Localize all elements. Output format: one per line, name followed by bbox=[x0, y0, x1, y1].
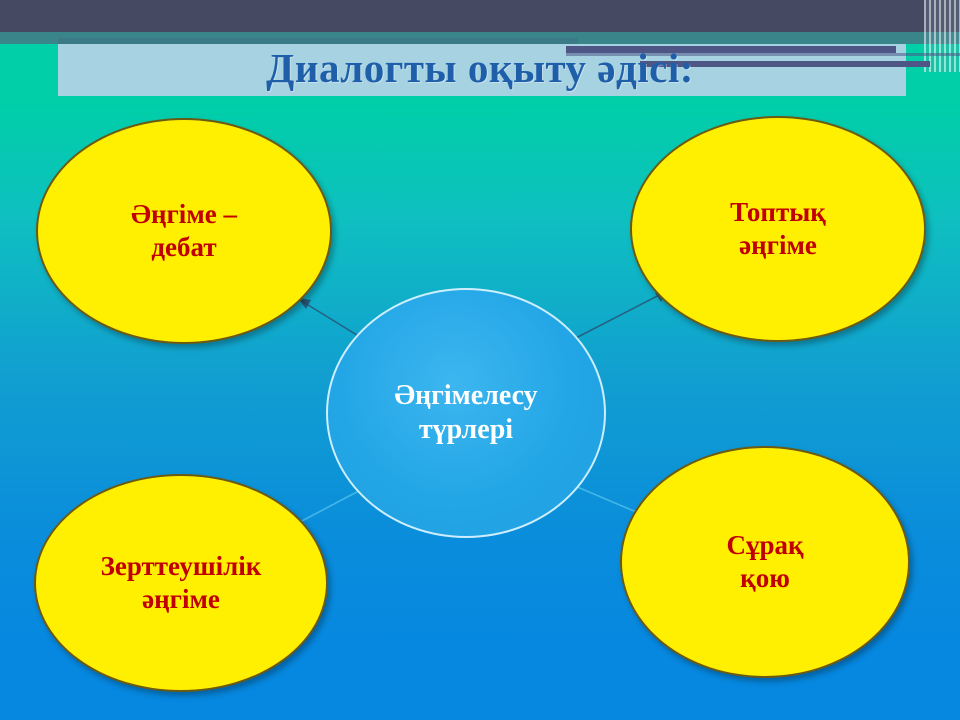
node-top-left-line1: Әңгіме – bbox=[131, 199, 237, 229]
node-bottom-right-line2: қою bbox=[740, 563, 790, 593]
slide-canvas: Диалогты оқыту әдісі: Әңгіме – дебат Топ… bbox=[0, 0, 960, 720]
center-node[interactable]: Әңгімелесу түрлері bbox=[326, 288, 606, 538]
node-bottom-right-label: Сұрақ қою bbox=[716, 529, 813, 595]
node-top-left-line2: дебат bbox=[151, 232, 216, 262]
node-bottom-left-label: Зерттеушілік әңгіме bbox=[91, 550, 272, 616]
node-top-right-label: Топтық әңгіме bbox=[720, 196, 836, 262]
node-bottom-left-line2: әңгіме bbox=[142, 584, 220, 614]
node-top-right-line1: Топтық bbox=[730, 197, 826, 227]
center-node-label: Әңгімелесу түрлері bbox=[384, 379, 547, 447]
node-top-right[interactable]: Топтық әңгіме bbox=[630, 116, 926, 342]
page-title: Диалогты оқыту әдісі: bbox=[100, 38, 860, 98]
node-bottom-left-line1: Зерттеушілік bbox=[101, 551, 262, 581]
connector-center-to-top-left bbox=[300, 300, 365, 340]
node-top-left-label: Әңгіме – дебат bbox=[121, 198, 247, 264]
node-top-left[interactable]: Әңгіме – дебат bbox=[36, 118, 332, 344]
center-node-line1: Әңгімелесу bbox=[394, 380, 537, 411]
node-bottom-right-line1: Сұрақ bbox=[726, 530, 803, 560]
connector-center-to-top-right bbox=[572, 292, 665, 340]
center-node-line2: түрлері bbox=[419, 414, 513, 445]
node-top-right-line2: әңгіме bbox=[739, 230, 817, 260]
header-band bbox=[0, 0, 960, 32]
node-bottom-right[interactable]: Сұрақ қою bbox=[620, 446, 910, 678]
node-bottom-left[interactable]: Зерттеушілік әңгіме bbox=[34, 474, 328, 692]
